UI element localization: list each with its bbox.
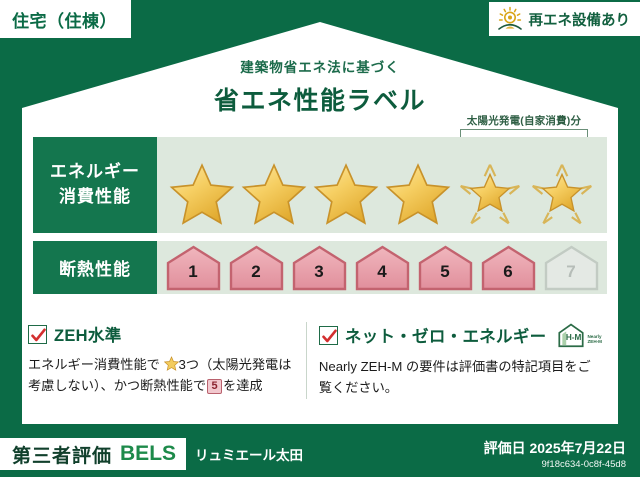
star-icon-solar [458,162,522,226]
evaluation-date: 評価日 2025年7月22日 [484,438,626,458]
logo-sub-line2: ZEH-M [587,339,602,344]
star-icon [385,161,451,227]
headline-subtitle: 建築物省エネ法に基づく [0,56,640,76]
energy-star-filled [385,159,451,229]
energy-star-solar [529,159,595,229]
check-icon [28,325,47,344]
net-zero-energy-column: ネット・ゼロ・エネルギー H-M Nearly ZEH-M Nearly ZEH… [306,322,614,399]
energy-star-filled [313,159,379,229]
insulation-grade-number: 3 [290,262,349,282]
property-name: リュミエール太田 [195,444,303,464]
bels-certification-badge: 第三者評価 BELS [0,438,186,470]
insulation-grade-house: 6 [479,245,538,291]
building-type-badge: 住宅（住棟） [0,0,131,38]
star-icon [313,161,379,227]
insulation-performance-label-text: 断熱性能 [59,255,131,280]
zeh-standard-body-part1: エネルギー消費性能で [28,357,160,372]
check-icon-svg [321,328,338,345]
net-zero-energy-body: Nearly ZEH-M の要件は評価書の特記項目をご覧ください。 [319,356,602,399]
check-icon [319,326,338,345]
insulation-grade-house: 4 [353,245,412,291]
insulation-grade-number: 7 [542,262,601,282]
star-icon [241,161,307,227]
energy-performance-row: エネルギー 消費性能 太陽光発電(自家消費)分 [33,137,607,233]
sun-renewable-icon [495,6,525,32]
energy-star-filled [169,159,235,229]
evaluation-id: 9f18c634-0c8f-45d8 [484,459,626,470]
building-type-label: 住宅（住棟） [12,7,117,32]
star-icon [164,356,179,371]
insulation-performance-row: 断熱性能 1 [33,241,607,294]
insulation-performance-value: 1 2 3 [157,241,607,294]
net-zero-energy-heading: ネット・ゼロ・エネルギー H-M Nearly ZEH-M [319,322,602,348]
zeh-standard-body: エネルギー消費性能で 3つ（太陽光発電は考慮しない）、かつ断熱性能で5を達成 [28,354,294,397]
check-icon-svg [30,327,47,344]
insulation-grade-house-inactive: 7 [542,245,601,291]
energy-performance-label-line1: エネルギー [50,160,140,185]
energy-performance-value: 太陽光発電(自家消費)分 [157,137,607,233]
house-logo-icon: H-M [556,322,586,348]
solar-self-consumption-annotation: 太陽光発電(自家消費)分 [447,113,601,137]
zeh-standard-column: ZEH水準 エネルギー消費性能で 3つ（太陽光発電は考慮しない）、かつ断熱性能で… [28,322,306,399]
solar-bracket [460,129,588,137]
zeh-info-section: ZEH水準 エネルギー消費性能で 3つ（太陽光発電は考慮しない）、かつ断熱性能で… [28,322,614,399]
star-icon [169,161,235,227]
ratings-section: エネルギー 消費性能 太陽光発電(自家消費)分 [33,137,607,302]
solar-self-consumption-caption: 太陽光発電(自家消費)分 [447,113,601,128]
insulation-grade-badge: 5 [207,379,222,394]
label-footer: 第三者評価 BELS リュミエール太田 評価日 2025年7月22日 9f18c… [0,431,640,477]
zeh-standard-title: ZEH水準 [54,322,122,346]
insulation-grade-number: 1 [164,262,223,282]
nearly-zehm-logo-subtext: Nearly ZEH-M [587,334,602,348]
insulation-grade-number: 6 [479,262,538,282]
page-title: 省エネ性能ラベル [0,81,640,117]
net-zero-energy-title: ネット・ゼロ・エネルギー [345,323,547,347]
evaluation-info: 評価日 2025年7月22日 9f18c634-0c8f-45d8 [484,438,640,470]
insulation-grade-house: 1 [164,245,223,291]
insulation-grade-number: 5 [416,262,475,282]
renewable-equipment-badge: 再エネ設備あり [489,2,640,36]
insulation-grade-track: 1 2 3 [157,241,607,294]
energy-label-card: 住宅（住棟） 再エネ設備あり 建築物省エ [0,0,640,477]
sun-renewable-icon-svg [495,6,525,32]
bels-wordmark: BELS [120,442,176,466]
energy-performance-label: エネルギー 消費性能 [33,137,157,233]
star-icon-solar [530,162,594,226]
zeh-standard-heading: ZEH水準 [28,322,294,346]
zeh-standard-body-part3: を達成 [223,378,263,393]
nearly-zehm-logo: H-M Nearly ZEH-M [556,322,602,348]
energy-star-filled [241,159,307,229]
renewable-equipment-label: 再エネ設備あり [529,9,631,30]
insulation-grade-house: 2 [227,245,286,291]
insulation-performance-label: 断熱性能 [33,241,157,294]
third-party-evaluation-label: 第三者評価 [12,441,112,468]
svg-text:H-M: H-M [566,333,582,342]
energy-star-track [157,157,607,231]
insulation-grade-house: 3 [290,245,349,291]
label-headline: 建築物省エネ法に基づく 省エネ性能ラベル [0,56,640,117]
insulation-grade-number: 4 [353,262,412,282]
energy-performance-label-line2: 消費性能 [59,185,131,210]
insulation-grade-house: 5 [416,245,475,291]
energy-star-solar [457,159,523,229]
insulation-grade-number: 2 [227,262,286,282]
